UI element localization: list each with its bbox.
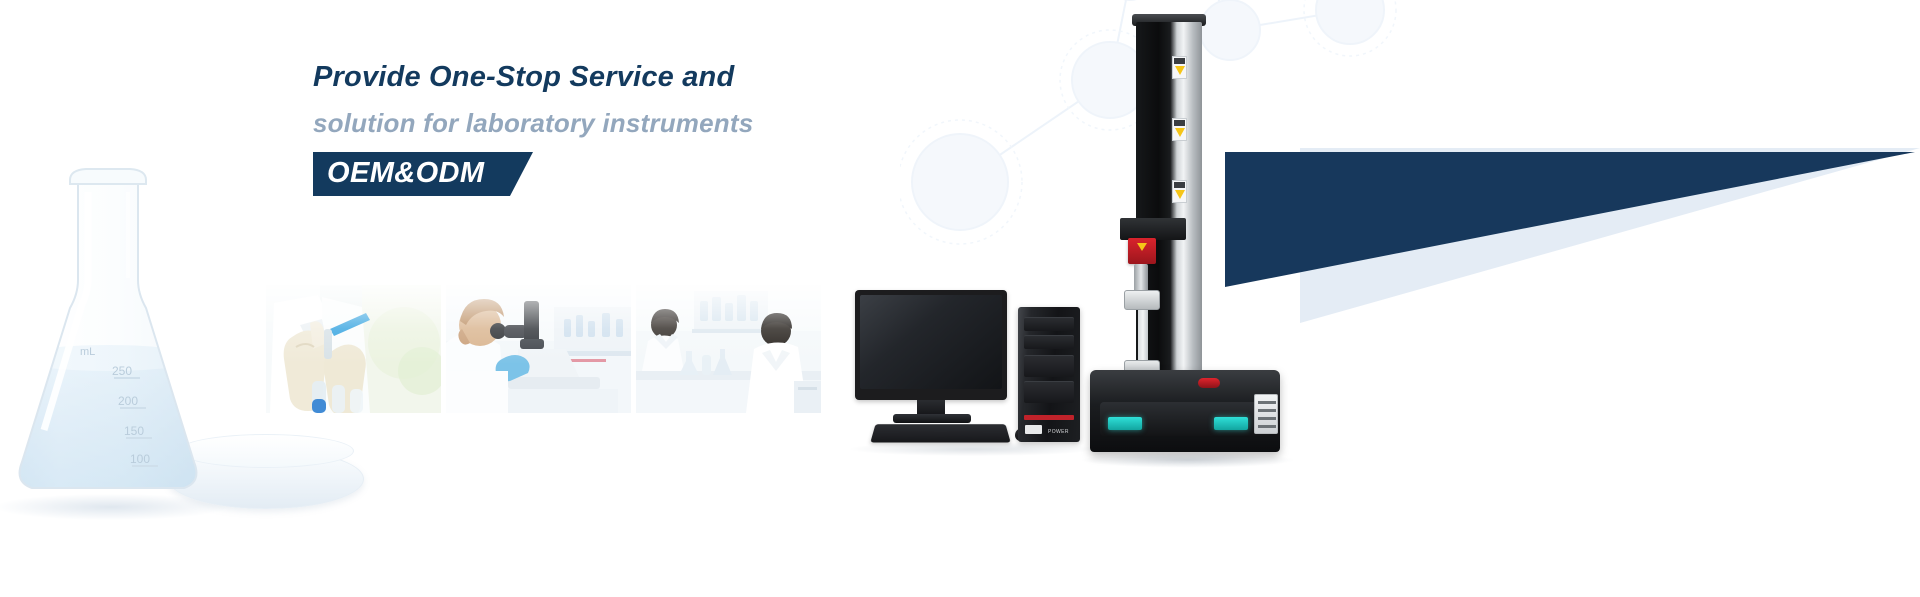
tower-brand-label: POWER (1048, 429, 1069, 435)
svg-text:200: 200 (118, 394, 138, 408)
hero-banner: Provide One-Stop Service and solution fo… (0, 0, 1920, 597)
base-accent-light-left (1108, 417, 1142, 430)
drive-bay (1024, 355, 1074, 377)
arrow-wedge-dark (1225, 152, 1915, 287)
universal-testing-machine (1090, 22, 1280, 452)
keyboard (870, 424, 1010, 442)
upper-grip-shaft (1134, 264, 1148, 292)
list-item (636, 285, 821, 413)
desktop-computer: POWER (855, 290, 1085, 450)
emergency-stop-button[interactable] (1198, 378, 1220, 388)
machine-base (1090, 370, 1280, 452)
crosshead (1120, 218, 1186, 240)
load-cell (1128, 238, 1156, 264)
testing-machine-shadow (1080, 452, 1295, 468)
warning-label-icon (1172, 56, 1187, 79)
upper-grip (1124, 290, 1160, 310)
headline-line-1: Provide One-Stop Service and (313, 57, 933, 97)
erlenmeyer-flask-icon: 250 200 150 100 mL (8, 162, 208, 502)
monitor-screen (860, 295, 1002, 389)
warning-label-icon (1172, 180, 1187, 203)
monitor (855, 290, 1007, 400)
control-panel[interactable] (1254, 394, 1278, 434)
laboratory-photo-strip (266, 285, 821, 413)
headline-line-2: solution for laboratory instruments (313, 102, 933, 144)
list-item (446, 285, 631, 413)
warning-label-icon (1172, 118, 1187, 141)
tower-accent-strip (1024, 415, 1074, 420)
svg-text:250: 250 (112, 364, 132, 378)
svg-text:100: 100 (130, 452, 150, 466)
svg-text:mL: mL (80, 346, 95, 358)
badge-wrapper: OEM&ODM (313, 152, 933, 196)
svg-text:150: 150 (124, 424, 144, 438)
drive-bay (1024, 381, 1074, 403)
monitor-stand-base (893, 414, 971, 423)
headline-block: Provide One-Stop Service and solution fo… (313, 57, 933, 196)
list-item (266, 285, 441, 413)
tower-logo-badge (1025, 425, 1042, 434)
drive-bay (1024, 317, 1074, 331)
pc-tower: POWER (1018, 307, 1080, 442)
base-accent-light-right (1214, 417, 1248, 430)
drive-bay (1024, 335, 1074, 349)
